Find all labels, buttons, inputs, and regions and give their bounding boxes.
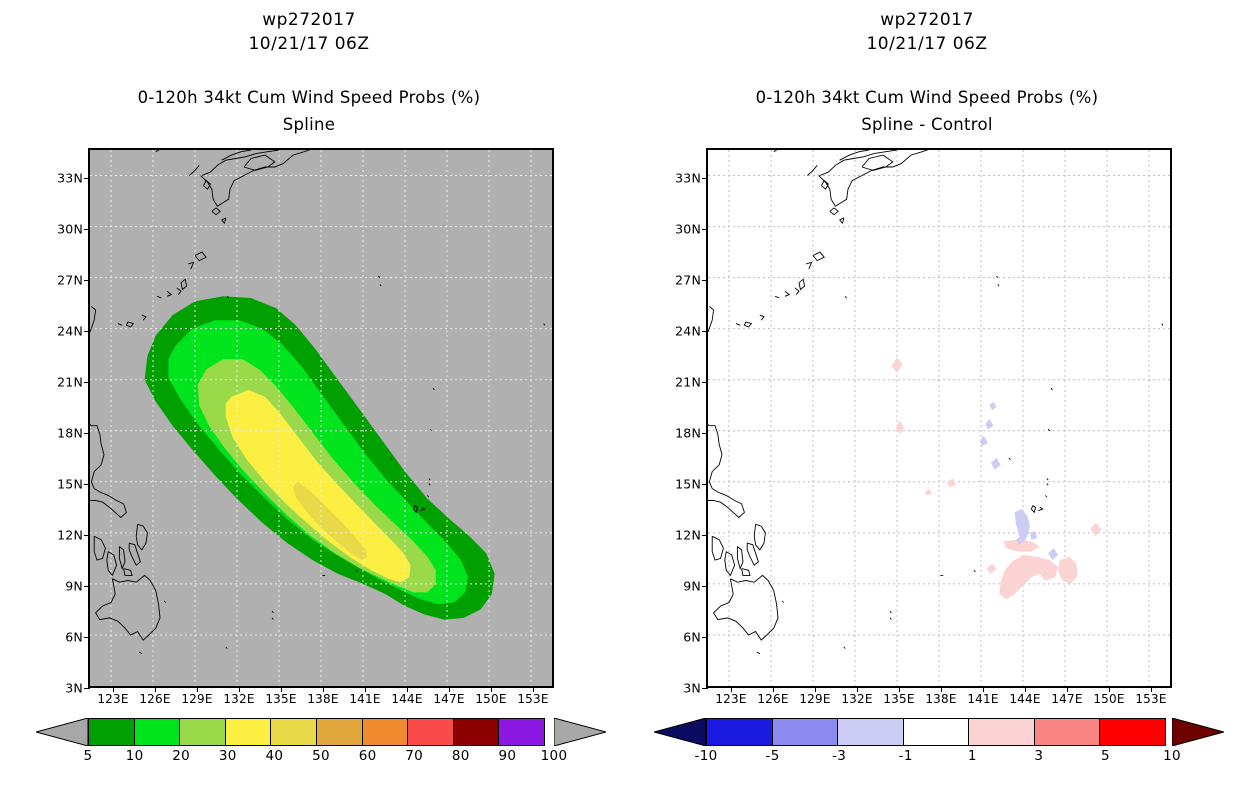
colorbar-left-tick-labels: 5102030405060708090100 — [88, 748, 554, 766]
colorbar-swatch — [1099, 718, 1166, 746]
y-axis-tick-right — [702, 535, 708, 536]
coastline — [737, 547, 743, 569]
coastline — [433, 388, 434, 390]
x-axis-tick-right — [941, 686, 942, 692]
coastline — [799, 279, 805, 289]
panel-subtitle-left: Spline — [0, 115, 618, 134]
y-axis-tick-left — [84, 382, 90, 383]
y-axis-label-right: 12N — [675, 527, 701, 542]
colorbar-right-blocks — [706, 718, 1172, 746]
x-axis-label-right: 153E — [1135, 692, 1166, 706]
colorbar-left: 5102030405060708090100 — [88, 718, 554, 746]
coastline — [845, 296, 846, 298]
map-plot-left: 33N30N27N24N21N18N15N12N9N6N3N123E126E12… — [88, 148, 554, 688]
x-axis-label-left: 144E — [391, 692, 422, 706]
coastline — [226, 647, 227, 649]
y-axis-label-left: 18N — [57, 425, 83, 440]
coastline — [94, 536, 105, 560]
coastline — [725, 552, 735, 576]
coastline — [742, 569, 750, 576]
colorbar-swatch — [453, 718, 500, 746]
x-axis-tick-right — [815, 686, 816, 692]
x-axis-tick-right — [1025, 686, 1026, 692]
map-inner-left — [90, 150, 552, 686]
map-graphics-left — [90, 150, 552, 686]
y-axis-tick-left — [84, 637, 90, 638]
coastline — [890, 611, 891, 613]
x-axis-tick-left — [407, 686, 408, 692]
coastline — [1047, 484, 1048, 486]
y-axis-tick-right — [702, 688, 708, 689]
x-axis-tick-left — [113, 686, 114, 692]
valid-datetime-left: 10/21/17 06Z — [0, 34, 618, 54]
x-axis-label-right: 141E — [967, 692, 998, 706]
x-axis-label-left: 135E — [265, 692, 296, 706]
y-axis-tick-left — [84, 688, 90, 689]
colorbar-swatch — [498, 718, 545, 746]
coastline — [840, 218, 844, 223]
negative-anomaly-patch — [980, 436, 988, 446]
colorbar-swatch — [837, 718, 904, 746]
coastline — [714, 575, 778, 640]
x-axis-tick-right — [731, 686, 732, 692]
colorbar-swatch — [225, 718, 272, 746]
y-axis-tick-left — [84, 178, 90, 179]
coastline — [862, 155, 893, 170]
x-axis-tick-left — [155, 686, 156, 692]
negative-anomaly-patch — [985, 419, 993, 429]
colorbar-right-high-cap — [1172, 718, 1224, 746]
x-axis-label-left: 150E — [475, 692, 506, 706]
positive-anomaly-patch — [896, 421, 904, 435]
colorbar-right-low-cap — [654, 718, 706, 746]
coastline — [156, 150, 191, 152]
positive-anomaly-patch — [987, 564, 997, 574]
y-axis-label-left: 3N — [65, 681, 83, 696]
coastline — [212, 208, 220, 215]
coastline — [201, 150, 314, 206]
negative-anomaly-patch — [1030, 531, 1037, 540]
coastline — [142, 315, 146, 320]
coastline — [126, 322, 133, 327]
x-axis-label-left: 132E — [223, 692, 254, 706]
colorbar-tick-label: 40 — [266, 748, 284, 764]
coastline — [785, 291, 789, 296]
x-axis-label-right: 126E — [757, 692, 788, 706]
x-axis-label-left: 129E — [181, 692, 212, 706]
colorbar-tick-label: 80 — [452, 748, 470, 764]
positive-anomaly-patch — [947, 478, 955, 487]
negative-anomaly-patch — [991, 458, 1001, 470]
y-axis-label-right: 9N — [683, 578, 701, 593]
coastline — [1162, 324, 1163, 326]
coastline — [244, 155, 275, 170]
coastline — [427, 495, 428, 497]
coastline — [429, 484, 430, 486]
coastline — [188, 262, 194, 269]
map-inner-right — [708, 150, 1170, 686]
coastline — [813, 252, 824, 261]
x-axis-label-right: 132E — [841, 692, 872, 706]
x-axis-label-right: 135E — [883, 692, 914, 706]
y-axis-label-right: 30N — [675, 221, 701, 236]
coastline — [830, 208, 838, 215]
y-axis-label-left: 12N — [57, 527, 83, 542]
y-axis-label-left: 30N — [57, 221, 83, 236]
coastline — [96, 575, 160, 640]
coastline — [820, 150, 897, 176]
y-axis-tick-left — [84, 535, 90, 536]
storm-id-right: wp272017 — [618, 10, 1236, 30]
colorbar-swatch — [903, 718, 970, 746]
colorbar-swatch — [316, 718, 363, 746]
coastline — [119, 547, 125, 569]
coastline — [974, 570, 975, 572]
map-graphics-right — [708, 150, 1170, 686]
storm-id-left: wp272017 — [0, 10, 618, 30]
x-axis-tick-left — [323, 686, 324, 692]
x-axis-label-left: 126E — [139, 692, 170, 706]
y-axis-label-right: 3N — [683, 681, 701, 696]
colorbar-tick-label: 60 — [359, 748, 377, 764]
valid-datetime-right: 10/21/17 06Z — [618, 34, 1236, 54]
coastline — [167, 291, 171, 296]
y-axis-tick-left — [84, 586, 90, 587]
y-axis-label-left: 6N — [65, 629, 83, 644]
panel-title-left: 0-120h 34kt Cum Wind Speed Probs (%) — [0, 88, 618, 107]
colorbar-tick-label: 100 — [541, 748, 568, 764]
coastline — [139, 652, 142, 654]
y-axis-tick-right — [702, 229, 708, 230]
coastline — [998, 284, 999, 286]
x-axis-tick-right — [983, 686, 984, 692]
coastline — [177, 288, 181, 295]
x-axis-tick-right — [899, 686, 900, 692]
colorbar-tick-label: 70 — [405, 748, 423, 764]
colorbar-tick-label: 3 — [1034, 748, 1043, 764]
coastline — [157, 296, 161, 298]
positive-anomaly-patch — [1090, 523, 1101, 537]
y-axis-tick-right — [702, 433, 708, 434]
x-axis-tick-left — [365, 686, 366, 692]
y-axis-label-left: 21N — [57, 374, 83, 389]
coastline — [164, 601, 165, 603]
coastline — [1038, 507, 1042, 510]
coastline — [996, 276, 997, 278]
y-axis-label-right: 15N — [675, 476, 701, 491]
map-plot-right: 33N30N27N24N21N18N15N12N9N6N3N123E126E12… — [706, 148, 1172, 688]
colorbar-swatch — [362, 718, 409, 746]
colorbar-swatch — [968, 718, 1035, 746]
x-axis-label-left: 123E — [97, 692, 128, 706]
x-axis-tick-left — [491, 686, 492, 692]
y-axis-tick-left — [84, 280, 90, 281]
x-axis-tick-right — [773, 686, 774, 692]
coastline — [819, 150, 932, 206]
coastline — [272, 611, 273, 613]
coastline — [736, 324, 740, 326]
x-axis-tick-left — [197, 686, 198, 692]
x-axis-tick-left — [449, 686, 450, 692]
coastline — [202, 150, 279, 176]
negative-anomaly-patch — [989, 402, 996, 411]
coastline — [807, 165, 817, 175]
panel-title-right: 0-120h 34kt Cum Wind Speed Probs (%) — [618, 88, 1236, 107]
coastline — [744, 322, 751, 327]
positive-anomaly-patch — [925, 489, 932, 496]
coastline — [754, 524, 765, 550]
colorbar-tick-label: 10 — [1163, 748, 1181, 764]
x-axis-label-right: 129E — [799, 692, 830, 706]
coastline — [774, 150, 809, 152]
coastline — [222, 218, 226, 223]
coastline — [1047, 478, 1048, 480]
coastline — [712, 536, 723, 560]
y-axis-tick-right — [702, 178, 708, 179]
colorbar-tick-label: 50 — [312, 748, 330, 764]
y-axis-tick-right — [702, 484, 708, 485]
y-axis-tick-right — [702, 331, 708, 332]
coastline — [272, 618, 273, 620]
coastline — [760, 315, 764, 320]
colorbar-swatch — [134, 718, 181, 746]
coastline — [90, 421, 126, 518]
positive-anomaly-patch — [999, 555, 1058, 599]
wind-speed-probability-figure: wp272017 10/21/17 06Z 0-120h 34kt Cum Wi… — [0, 0, 1236, 800]
y-axis-label-left: 15N — [57, 476, 83, 491]
positive-anomaly-patch — [1058, 557, 1078, 584]
y-axis-label-left: 33N — [57, 170, 83, 185]
colorbar-tick-label: 5 — [84, 748, 93, 764]
coastline — [795, 288, 799, 295]
coastline — [189, 165, 199, 175]
coastline — [544, 324, 545, 326]
x-axis-label-left: 141E — [349, 692, 380, 706]
colorbar-left-low-cap — [36, 718, 88, 746]
coastline — [782, 601, 783, 603]
x-axis-label-right: 150E — [1093, 692, 1124, 706]
y-axis-label-right: 33N — [675, 170, 701, 185]
panel-subtitle-right: Spline - Control — [618, 115, 1236, 134]
colorbar-tick-label: 1 — [968, 748, 977, 764]
y-axis-tick-right — [702, 382, 708, 383]
x-axis-tick-right — [857, 686, 858, 692]
colorbar-swatch — [88, 718, 135, 746]
y-axis-tick-left — [84, 331, 90, 332]
y-axis-tick-right — [702, 586, 708, 587]
colorbar-right: -10-5-3-113510 — [706, 718, 1172, 746]
x-axis-tick-left — [533, 686, 534, 692]
y-axis-tick-right — [702, 280, 708, 281]
coastline — [380, 284, 381, 286]
x-axis-label-right: 123E — [715, 692, 746, 706]
y-axis-label-right: 27N — [675, 272, 701, 287]
y-axis-tick-left — [84, 433, 90, 434]
x-axis-label-right: 147E — [1051, 692, 1082, 706]
coastline — [806, 262, 812, 269]
coastline — [1051, 388, 1052, 390]
coastline — [757, 652, 760, 654]
coastline — [1045, 495, 1046, 497]
colorbar-tick-label: -5 — [766, 748, 780, 764]
x-axis-label-left: 153E — [517, 692, 548, 706]
coastline — [107, 552, 117, 576]
panel-spline-minus-control: wp272017 10/21/17 06Z 0-120h 34kt Cum Wi… — [618, 0, 1236, 800]
coastline — [181, 279, 187, 289]
x-axis-tick-right — [1109, 686, 1110, 692]
y-axis-label-right: 6N — [683, 629, 701, 644]
y-axis-label-right: 24N — [675, 323, 701, 338]
y-axis-tick-left — [84, 229, 90, 230]
colorbar-tick-label: 90 — [499, 748, 517, 764]
coastline — [775, 296, 779, 298]
coastline — [378, 276, 379, 278]
x-axis-tick-left — [281, 686, 282, 692]
colorbar-tick-label: -10 — [695, 748, 718, 764]
coastline — [708, 421, 744, 518]
y-axis-label-left: 27N — [57, 272, 83, 287]
coastline — [1031, 506, 1035, 513]
x-axis-label-left: 147E — [433, 692, 464, 706]
y-axis-label-left: 24N — [57, 323, 83, 338]
x-axis-label-right: 138E — [925, 692, 956, 706]
coastline — [195, 252, 206, 261]
colorbar-tick-label: 30 — [219, 748, 237, 764]
colorbar-swatch — [1034, 718, 1101, 746]
y-axis-tick-right — [702, 637, 708, 638]
y-axis-label-left: 9N — [65, 578, 83, 593]
colorbar-left-high-cap — [554, 718, 606, 746]
negative-anomaly-patch — [1015, 509, 1030, 543]
x-axis-tick-right — [1067, 686, 1068, 692]
colorbar-swatch — [179, 718, 226, 746]
colorbar-tick-label: 5 — [1101, 748, 1110, 764]
positive-anomaly-patch — [891, 358, 902, 373]
coastline — [124, 569, 132, 576]
y-axis-tick-left — [84, 484, 90, 485]
negative-anomaly-patch — [1048, 548, 1058, 560]
x-axis-label-right: 144E — [1009, 692, 1040, 706]
coastline — [136, 524, 147, 550]
coastline — [429, 478, 430, 480]
colorbar-tick-label: -1 — [899, 748, 913, 764]
colorbar-swatch — [706, 718, 773, 746]
coastline — [844, 647, 845, 649]
colorbar-swatch — [772, 718, 839, 746]
colorbar-swatch — [270, 718, 317, 746]
coastline — [1009, 458, 1010, 460]
colorbar-left-blocks — [88, 718, 554, 746]
coastline — [890, 618, 891, 620]
x-axis-label-left: 138E — [307, 692, 338, 706]
colorbar-right-tick-labels: -10-5-3-113510 — [706, 748, 1172, 766]
y-axis-label-right: 21N — [675, 374, 701, 389]
y-axis-label-right: 18N — [675, 425, 701, 440]
colorbar-tick-label: 20 — [172, 748, 190, 764]
x-axis-tick-right — [1151, 686, 1152, 692]
x-axis-tick-left — [239, 686, 240, 692]
colorbar-swatch — [407, 718, 454, 746]
panel-spline: wp272017 10/21/17 06Z 0-120h 34kt Cum Wi… — [0, 0, 618, 800]
colorbar-tick-label: 10 — [126, 748, 144, 764]
coastline — [118, 324, 122, 326]
colorbar-tick-label: -3 — [832, 748, 846, 764]
